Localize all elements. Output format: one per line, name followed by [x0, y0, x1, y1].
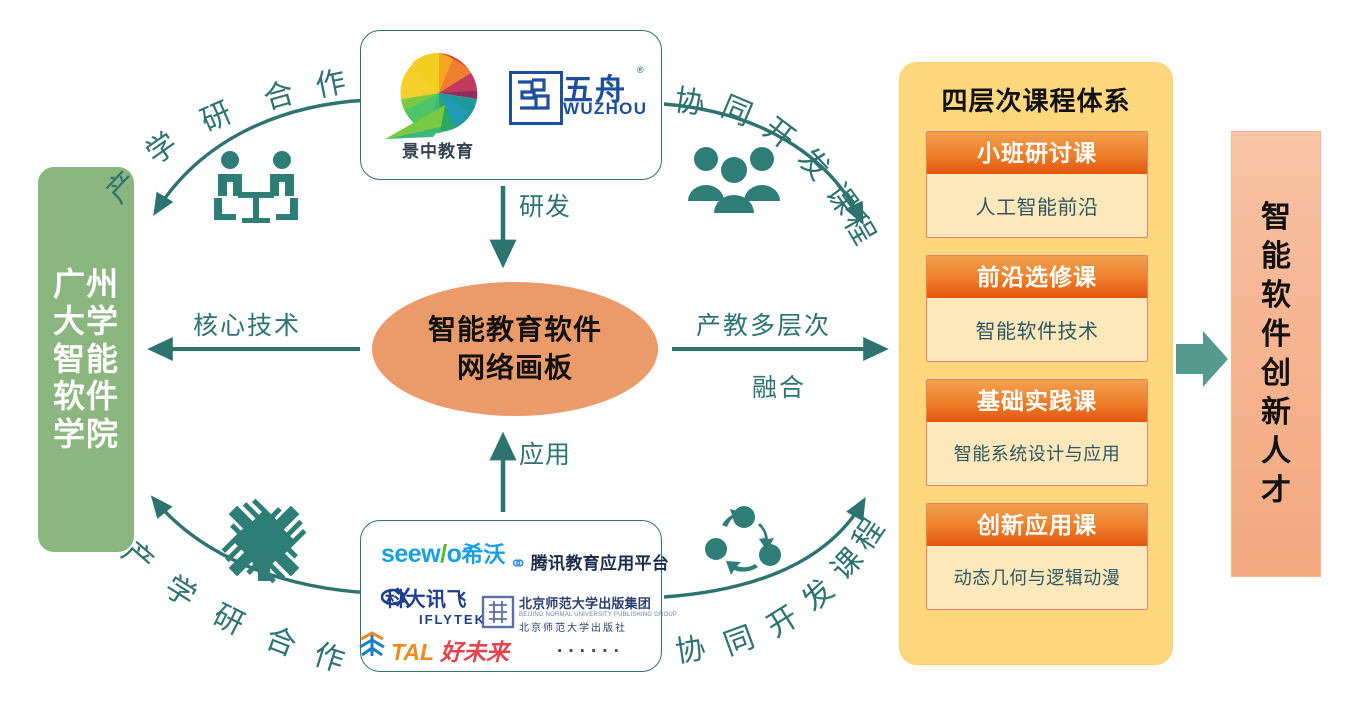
institute-pillar[interactable]: 广州大学智能软件学院: [38, 167, 134, 552]
tencent-edu-label: 腾讯教育应用平台: [531, 554, 669, 573]
course-card-header: 创新应用课: [927, 504, 1147, 546]
tal-logo: TAL 好未来: [391, 633, 509, 667]
course-card-header: 小班研讨课: [927, 132, 1147, 174]
tal-en: TAL: [391, 639, 434, 665]
core-product-line2: 网络画板: [457, 349, 573, 387]
course-card-body: 动态几何与逻辑动漫: [927, 546, 1147, 608]
arc-label-top-right-char: 同: [715, 82, 760, 134]
arrow-label-fusion-bottom: 融合: [752, 368, 806, 404]
core-product-node[interactable]: 智能教育软件 网络画板: [372, 282, 658, 416]
people-group-icon: [684, 143, 784, 215]
top-partner-logo-card[interactable]: 景中教育 五舟 WUZHOU ®: [360, 30, 662, 180]
tal-mark-icon: [357, 630, 387, 658]
seewo-en2: o: [447, 540, 462, 568]
jingzhong-logo: 景中教育: [383, 49, 493, 161]
institute-pillar-label: 广州大学智能软件学院: [53, 266, 119, 453]
course-system-panel[interactable]: 四层次课程体系 小班研讨课 人工智能前沿 前沿选修课 智能软件技术 基础实践课 …: [899, 62, 1173, 665]
wuzhou-registered: ®: [637, 65, 644, 75]
iflytek-logo: 科大讯飞 IFLYTEK: [385, 583, 486, 627]
arc-label-bottom-left-char: 作: [309, 630, 351, 681]
bnup-cn2: 北京师范大学出版社: [519, 619, 677, 634]
talent-pillar[interactable]: 智能软件创新人才: [1231, 131, 1321, 577]
seewo-logo: seew/o希沃: [381, 537, 505, 569]
seewo-cn: 希沃: [461, 542, 505, 567]
bnup-cn: 北京师范大学出版集团: [519, 593, 677, 612]
block-arrow-right-icon: [1176, 331, 1228, 387]
arc-label-bottom-left-char: 合: [260, 613, 304, 665]
tal-cn: 好未来: [440, 639, 509, 665]
bottom-partner-logo-card[interactable]: seew/o希沃 ⚭腾讯教育应用平台 科大讯飞 IFLYTEK 北京师范大学出版…: [360, 520, 662, 672]
arrow-label-fusion-top: 产教多层次: [696, 306, 831, 342]
arc-label-top-left-char: 作: [311, 56, 349, 105]
wuzhou-logo: 五舟 WUZHOU ®: [509, 69, 649, 141]
arrow-label-core-tech: 核心技术: [193, 306, 301, 342]
course-panel-title: 四层次课程体系: [900, 81, 1172, 118]
bnup-mark-icon: [481, 595, 515, 629]
bnup-logo: 北京师范大学出版集团 BEIJING NORMAL UNIVERSITY PUB…: [519, 593, 677, 634]
arc-label-bottom-right-char: 发: [790, 566, 842, 619]
course-card[interactable]: 前沿选修课 智能软件技术: [926, 255, 1148, 362]
arc-label-bottom-right-char: 开: [756, 592, 805, 645]
arc-label-top-right-char: 协: [672, 75, 708, 123]
arc-label-top-right-char: 发: [789, 136, 842, 188]
iflytek-mark-icon: [381, 585, 411, 609]
more-partners-dots: ······: [557, 641, 625, 663]
course-card-header: 前沿选修课: [927, 256, 1147, 298]
arc-label-top-left-char: 合: [257, 67, 298, 117]
cycle-arrows-icon: [700, 505, 784, 581]
diagram-canvas: 广州大学智能软件学院 智能软件创新人才: [0, 0, 1346, 701]
course-card-body: 智能软件技术: [927, 298, 1147, 360]
arc-label-bottom-right-char: 同: [716, 612, 759, 664]
arc-label-bottom-left-char: 学: [157, 562, 206, 615]
hands-together-icon: [212, 495, 316, 587]
pie-tail-icon: [383, 101, 453, 141]
tencent-edu-icon: ⚭: [509, 551, 528, 577]
seewo-en: seew: [381, 540, 440, 568]
meeting-table-icon: [208, 148, 304, 228]
course-card-body: 智能系统设计与应用: [927, 422, 1147, 484]
arrow-label-rd: 研发: [519, 193, 549, 221]
arc-label-top-left-char: 研: [192, 88, 237, 140]
arrow-label-application: 应用: [519, 441, 549, 469]
bnup-en: BEIJING NORMAL UNIVERSITY PUBLISHING GRO…: [519, 612, 677, 618]
wuzhou-en: WUZHOU: [563, 99, 647, 119]
course-card[interactable]: 小班研讨课 人工智能前沿: [926, 131, 1148, 238]
course-card-header: 基础实践课: [927, 380, 1147, 422]
talent-pillar-label: 智能软件创新人才: [1259, 198, 1293, 510]
arc-label-top-left-char: 学: [135, 119, 185, 172]
arc-label-bottom-left-char: 研: [207, 591, 254, 644]
course-card-body: 人工智能前沿: [927, 174, 1147, 236]
wuzhou-mark-icon: [509, 71, 563, 125]
arc-label-bottom-right-char: 协: [672, 623, 708, 671]
tencent-edu-logo: ⚭腾讯教育应用平台: [509, 549, 669, 577]
course-card[interactable]: 创新应用课 动态几何与逻辑动漫: [926, 503, 1148, 610]
course-card[interactable]: 基础实践课 智能系统设计与应用: [926, 379, 1148, 486]
jingzhong-label: 景中教育: [383, 137, 493, 162]
iflytek-en: IFLYTEK: [419, 612, 486, 627]
core-product-line1: 智能教育软件: [428, 311, 602, 349]
